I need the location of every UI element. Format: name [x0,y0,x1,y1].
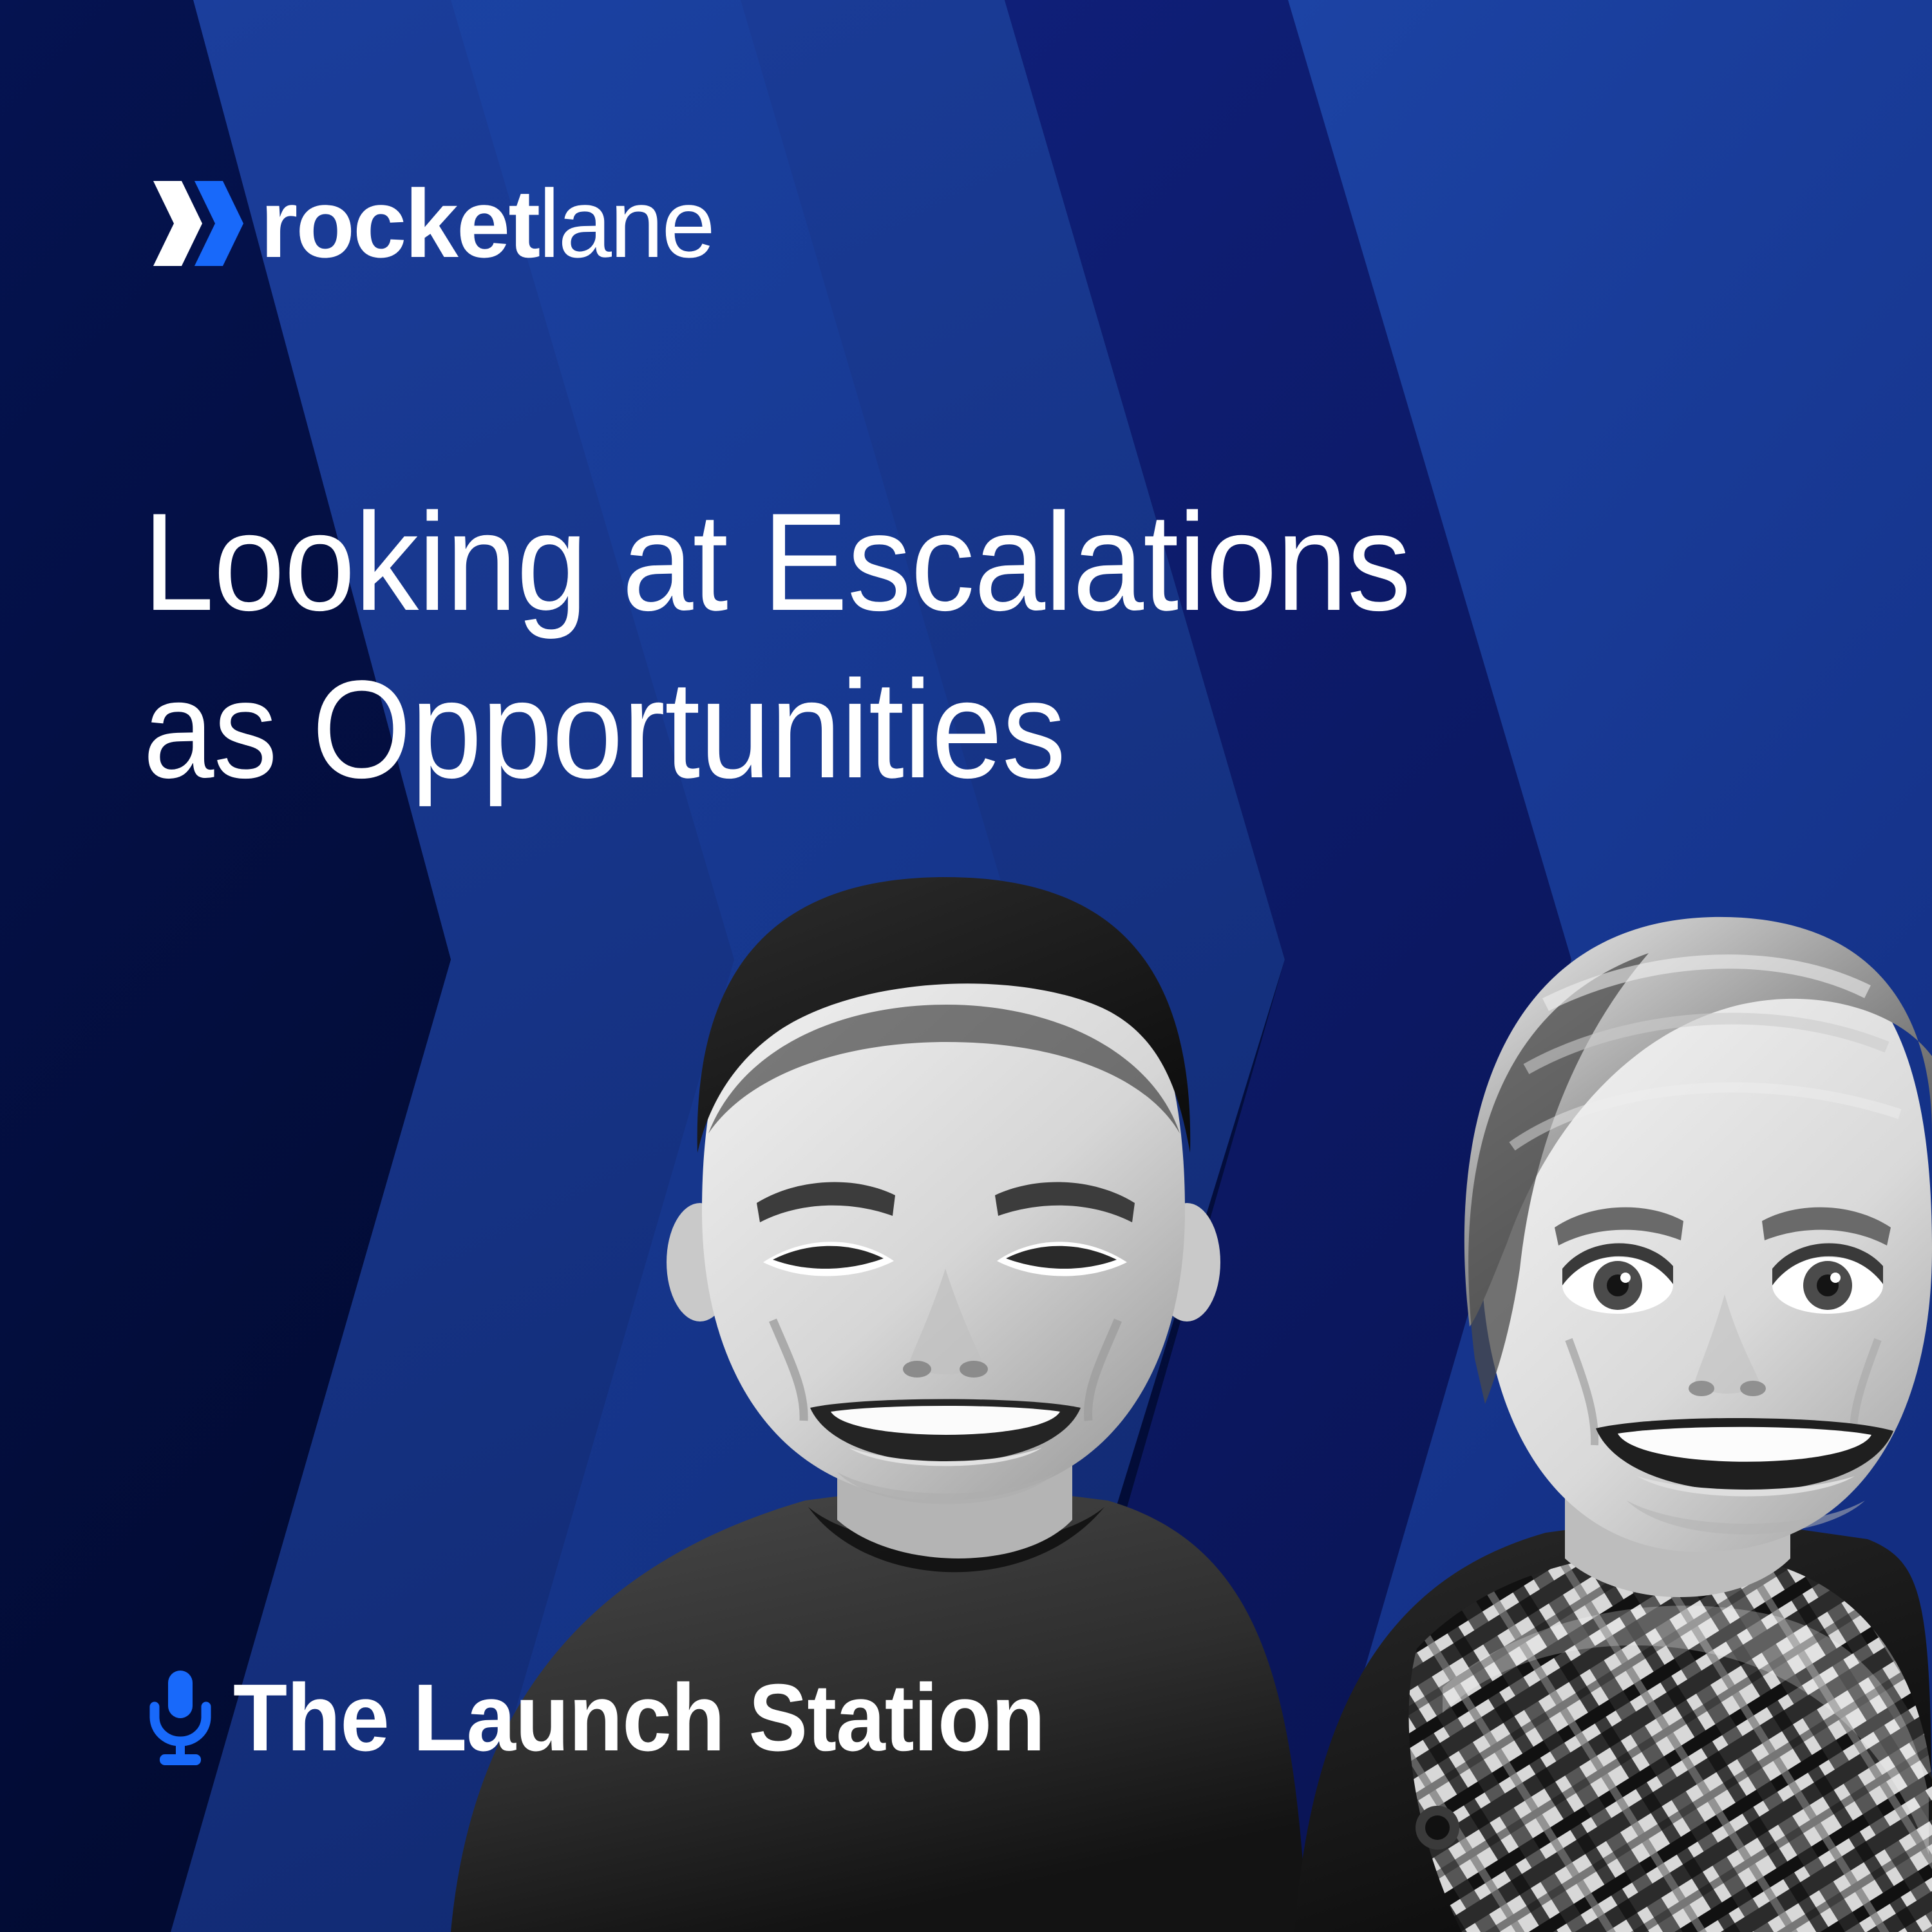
logo-word-bold: rocket [260,169,538,278]
show-name-block: The Launch Station [147,1660,1106,1776]
double-chevron-icon [147,176,243,271]
episode-title: Looking at Escalations as Opportunities [143,478,1565,813]
guest-portraits [0,0,1932,1932]
show-name-text: The Launch Station [233,1670,1045,1766]
microphone-icon [147,1669,214,1767]
podcast-cover-art: rocketlane Looking at Escalations as Opp… [0,0,1932,1932]
episode-title-line-1: Looking at Escalations [143,478,1565,645]
guest-portrait-right [1294,917,1932,1932]
episode-title-line-2: as Opportunities [143,645,1565,813]
logo-wordmark: rocketlane [260,175,714,272]
logo-word-light: lane [538,169,714,278]
rocketlane-logo[interactable]: rocketlane [147,169,714,278]
